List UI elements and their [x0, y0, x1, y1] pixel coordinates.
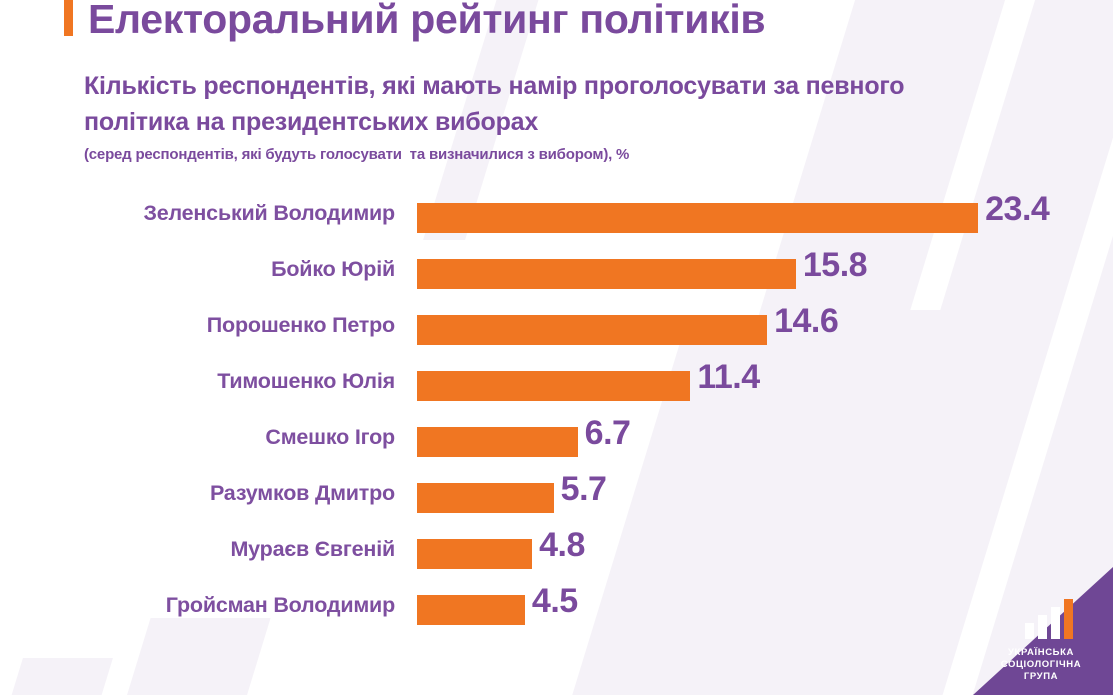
bar-chart: Зеленський Володимир23.4Бойко Юрій15.8По… [0, 195, 1113, 643]
page-subtitle: Кількість респондентів, які мають намір … [84, 68, 984, 140]
logo-bar [1051, 607, 1060, 639]
watermark-stripe [0, 658, 113, 695]
bar-track [417, 483, 554, 513]
bar [417, 371, 690, 401]
bar-track [417, 539, 532, 569]
logo-bar-highlight [1064, 599, 1073, 639]
bar-value-label: 6.7 [585, 414, 631, 453]
logo-bar [1025, 623, 1034, 639]
bar [417, 427, 578, 457]
bar-value-label: 15.8 [803, 246, 867, 285]
bar-value-label: 11.4 [697, 358, 759, 397]
bar-row: Зеленський Володимир23.4 [0, 195, 1113, 251]
bar [417, 595, 525, 625]
bar-track [417, 203, 978, 233]
bar-track [417, 427, 578, 457]
bar-value-label: 4.8 [539, 526, 585, 565]
infographic-page: Електоральний рейтинг політиків Кількіст… [0, 0, 1113, 695]
bar-category-label: Мураєв Євгеній [230, 537, 395, 562]
title-accent-bar [64, 0, 73, 36]
bar-track [417, 371, 690, 401]
bar-value-label: 4.5 [532, 582, 578, 621]
bar-category-label: Разумков Дмитро [210, 481, 395, 506]
bar-track [417, 595, 525, 625]
bar-row: Бойко Юрій15.8 [0, 251, 1113, 307]
page-title: Електоральний рейтинг політиків [88, 0, 765, 43]
bar-row: Мураєв Євгеній4.8 [0, 531, 1113, 587]
logo-bar [1038, 615, 1047, 639]
logo-bar-chart-icon [1025, 599, 1073, 639]
bar-category-label: Зеленський Володимир [143, 201, 395, 226]
bar [417, 259, 796, 289]
bar-value-label: 5.7 [561, 470, 607, 509]
bar-row: Разумков Дмитро5.7 [0, 475, 1113, 531]
bar-track [417, 315, 767, 345]
bar-track [417, 259, 796, 289]
logo-text-line-2: СОЦІОЛОГІЧНА [973, 659, 1109, 671]
logo-text: УКРАЇНСЬКА СОЦІОЛОГІЧНА ГРУПА [973, 647, 1109, 683]
bar-value-label: 14.6 [774, 302, 838, 341]
bar-row: Порошенко Петро14.6 [0, 307, 1113, 363]
bar-row: Гройсман Володимир4.5 [0, 587, 1113, 643]
bar-row: Смешко Ігор6.7 [0, 419, 1113, 475]
bar [417, 203, 978, 233]
organization-logo: УКРАЇНСЬКА СОЦІОЛОГІЧНА ГРУПА [973, 567, 1113, 695]
bar-value-label: 23.4 [985, 190, 1049, 229]
logo-text-line-1: УКРАЇНСЬКА [973, 647, 1109, 659]
bar [417, 483, 554, 513]
bar-category-label: Бойко Юрій [271, 257, 395, 282]
bar-row: Тимошенко Юлія11.4 [0, 363, 1113, 419]
logo-text-line-3: ГРУПА [973, 671, 1109, 683]
page-note: (серед респондентів, які будуть голосува… [84, 146, 629, 163]
bar-category-label: Тимошенко Юлія [217, 369, 395, 394]
bar-category-label: Гройсман Володимир [166, 593, 395, 618]
bar [417, 539, 532, 569]
bar-category-label: Порошенко Петро [207, 313, 395, 338]
bar [417, 315, 767, 345]
bar-category-label: Смешко Ігор [265, 425, 395, 450]
